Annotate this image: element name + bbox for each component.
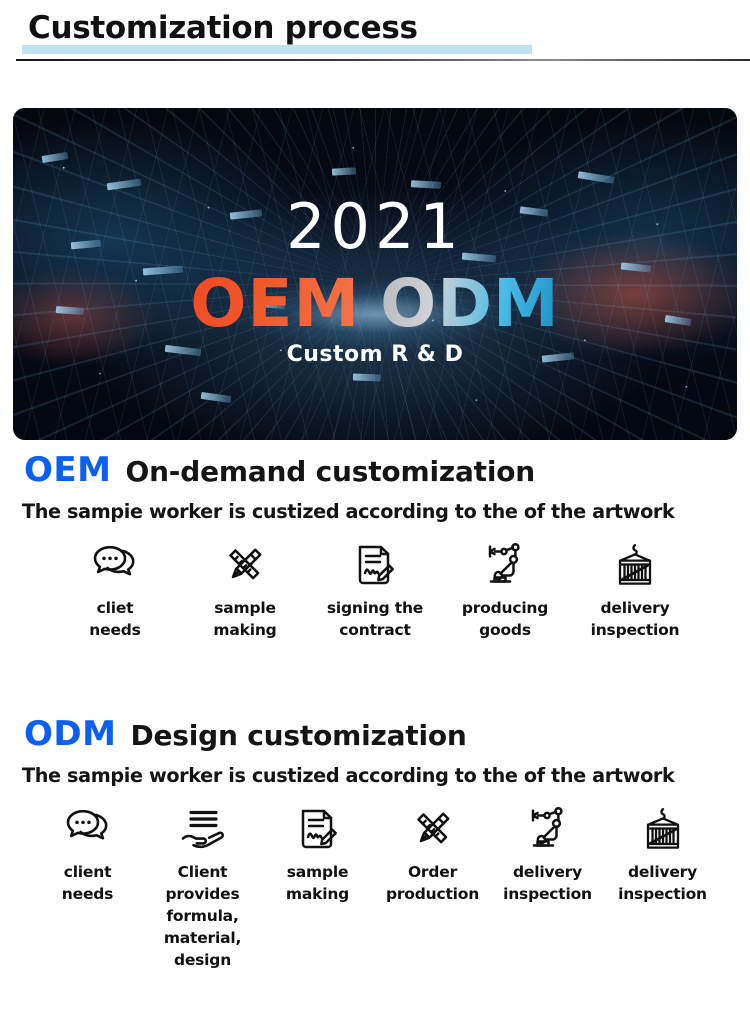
step-item: clientneeds: [30, 805, 145, 905]
step-item: samplemaking: [180, 541, 310, 641]
hero-banner: 2021 OEM ODM Custom R & D: [13, 108, 737, 440]
step-item: signing thecontract: [310, 541, 440, 641]
step-label: samplemaking: [213, 597, 276, 641]
header-divider-rule: [16, 59, 750, 61]
banner-year: 2021: [286, 192, 464, 262]
banner-oem-logo: OEM: [190, 268, 360, 340]
contract-signature-icon: [351, 541, 399, 589]
banner-content: 2021 OEM ODM Custom R & D: [13, 108, 737, 440]
chat-bubbles-icon: [64, 805, 112, 853]
step-item: deliveryinspection: [570, 541, 700, 641]
banner-subtitle: Custom R & D: [287, 342, 464, 367]
step-label: deliveryinspection: [503, 861, 592, 905]
step-item: deliveryinspection: [490, 805, 605, 905]
pencil-ruler-icon: [221, 541, 269, 589]
page-title: Customization process: [28, 8, 750, 48]
step-label: clientneeds: [62, 861, 113, 905]
crate-hook-icon: [611, 541, 659, 589]
page-header: Customization process: [0, 0, 750, 48]
robot-arm-icon: [481, 541, 529, 589]
step-label: deliveryinspection: [618, 861, 707, 905]
oem-section: OEM On-demand customization The sampie w…: [0, 450, 750, 641]
odm-section: ODM Design customization The sampie work…: [0, 714, 750, 971]
step-label: samplemaking: [286, 861, 349, 905]
banner-logo-group: OEM ODM: [190, 268, 559, 340]
odm-code-label: ODM: [24, 714, 116, 754]
robot-arm-icon: [524, 805, 572, 853]
step-label: clietneeds: [89, 597, 140, 641]
chat-bubbles-icon: [91, 541, 139, 589]
step-label: deliveryinspection: [591, 597, 680, 641]
step-item: deliveryinspection: [605, 805, 720, 905]
step-item: producinggoods: [440, 541, 570, 641]
odm-heading: ODM Design customization: [0, 714, 750, 754]
step-item: samplemaking: [260, 805, 375, 905]
odm-description: The sampie worker is custized according …: [0, 764, 750, 787]
pencil-ruler-icon: [409, 805, 457, 853]
step-label: signing thecontract: [327, 597, 423, 641]
step-item: Orderproduction: [375, 805, 490, 905]
step-item: clietneeds: [50, 541, 180, 641]
step-label: Client providesformula,material,design: [145, 861, 260, 971]
oem-description: The sampie worker is custized according …: [0, 500, 750, 523]
step-item: Client providesformula,material,design: [145, 805, 260, 971]
crate-hook-icon: [639, 805, 687, 853]
banner-odm-logo: ODM: [380, 268, 560, 340]
odm-title: Design customization: [130, 719, 466, 752]
step-label: producinggoods: [462, 597, 548, 641]
odm-steps-row: clientneedsClient providesformula,materi…: [0, 805, 750, 971]
contract-signature-icon: [294, 805, 342, 853]
oem-title: On-demand customization: [125, 455, 535, 488]
step-label: Orderproduction: [386, 861, 479, 905]
customization-process-page: Customization process: [0, 0, 750, 1010]
hand-documents-icon: [179, 805, 227, 853]
oem-heading: OEM On-demand customization: [0, 450, 750, 490]
oem-steps-row: clietneedssamplemakingsigning thecontrac…: [0, 541, 750, 641]
title-underline-accent: [22, 45, 532, 54]
oem-code-label: OEM: [24, 450, 111, 490]
